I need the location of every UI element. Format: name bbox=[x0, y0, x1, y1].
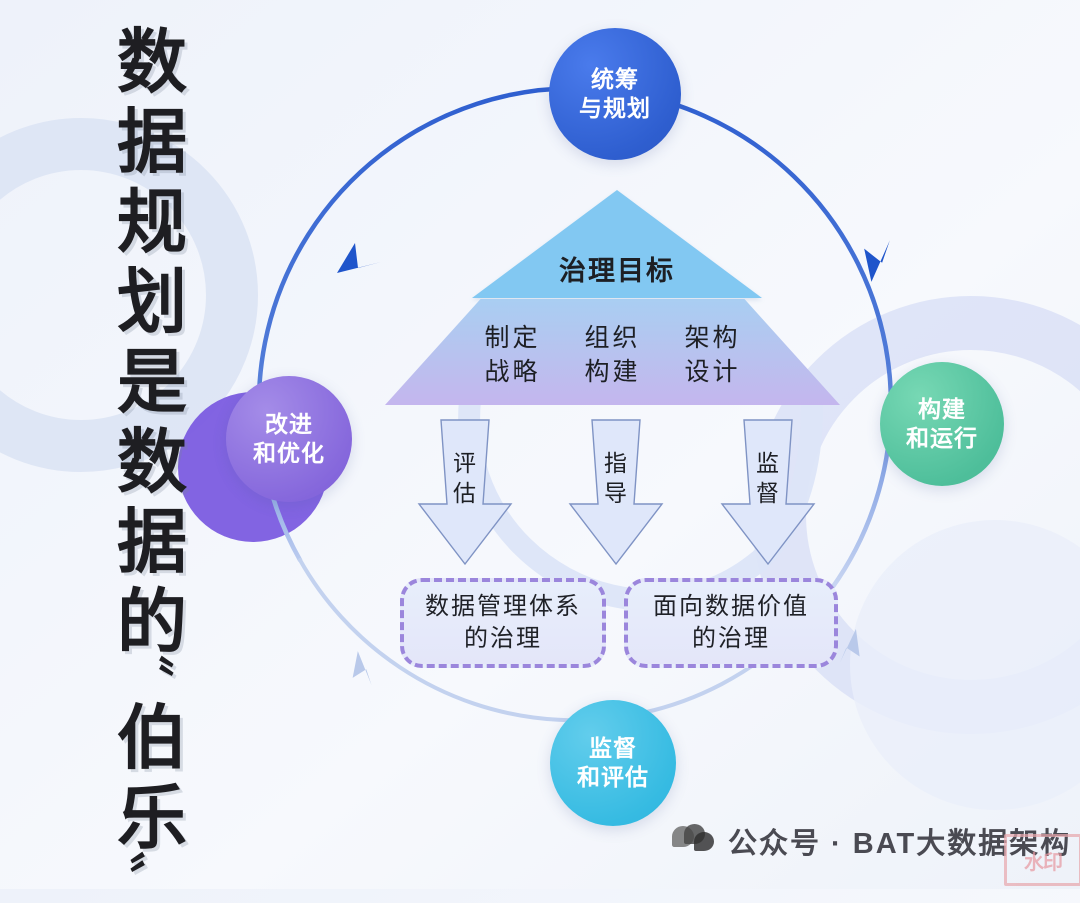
arrow-line-1: 评 bbox=[417, 448, 513, 478]
pyramid-base-column-0: 制定 战略 bbox=[484, 321, 540, 389]
node-line-1: 构建 bbox=[918, 395, 966, 424]
column-line-1: 组织 bbox=[584, 321, 640, 355]
cycle-node-planning[interactable]: 统筹 与规划 bbox=[549, 28, 681, 160]
cycle-arrowhead-bottom-left bbox=[343, 651, 373, 691]
node-line-1: 统筹 bbox=[591, 65, 639, 94]
cycle-arrowhead-bottom-right bbox=[837, 629, 870, 670]
node-line-2: 和优化 bbox=[253, 439, 325, 468]
column-line-1: 制定 bbox=[484, 321, 540, 355]
chat-bubbles-icon bbox=[672, 824, 718, 858]
column-line-1: 架构 bbox=[685, 321, 741, 355]
cycle-arrowhead-left bbox=[337, 243, 381, 273]
pyramid-base-column-2: 架构 设计 bbox=[685, 321, 741, 389]
down-arrow-evaluate: 评 估 bbox=[417, 418, 513, 566]
arrow-line-1: 监 bbox=[720, 448, 816, 478]
governance-box-line-1: 面向数据价值 bbox=[653, 591, 809, 623]
column-line-2: 设计 bbox=[685, 355, 741, 389]
down-arrow-guide: 指 导 bbox=[568, 418, 664, 566]
cycle-node-supervise-evaluate[interactable]: 监督 和评估 bbox=[550, 700, 676, 826]
arrow-line-2: 导 bbox=[568, 478, 664, 508]
node-line-2: 和运行 bbox=[906, 424, 978, 453]
pyramid-base: 制定 战略 组织 构建 架构 设计 bbox=[385, 299, 840, 405]
down-arrow-label: 评 估 bbox=[417, 448, 513, 508]
column-line-2: 构建 bbox=[584, 355, 640, 389]
governance-box-line-2: 的治理 bbox=[653, 623, 809, 655]
node-line-1: 改进 bbox=[265, 410, 313, 439]
column-line-2: 战略 bbox=[484, 355, 540, 389]
cycle-node-improve-optimize[interactable]: 改进 和优化 bbox=[226, 376, 352, 502]
pyramid-base-column-1: 组织 构建 bbox=[584, 321, 640, 389]
down-arrow-label: 监 督 bbox=[720, 448, 816, 508]
pyramid-apex: 治理目标 bbox=[472, 190, 762, 298]
down-arrow-label: 指 导 bbox=[568, 448, 664, 508]
node-line-1: 监督 bbox=[589, 734, 637, 763]
arrow-line-2: 估 bbox=[417, 478, 513, 508]
governance-box-line-1: 数据管理体系 bbox=[425, 591, 581, 623]
governance-box-0: 数据管理体系 的治理 bbox=[400, 578, 606, 668]
node-line-2: 与规划 bbox=[579, 94, 651, 123]
stamp-watermark: 水印 bbox=[1004, 834, 1080, 886]
poster-canvas: 数 据 规 划 是 数 据 的 〝 伯 乐 〞 bbox=[0, 0, 1080, 889]
node-line-2: 和评估 bbox=[577, 763, 649, 792]
pyramid-apex-label: 治理目标 bbox=[472, 249, 762, 288]
cycle-node-build-run[interactable]: 构建 和运行 bbox=[880, 362, 1004, 486]
arrow-line-2: 督 bbox=[720, 478, 816, 508]
governance-box-1: 面向数据价值 的治理 bbox=[624, 578, 838, 668]
governance-box-line-2: 的治理 bbox=[425, 623, 581, 655]
down-arrow-supervise: 监 督 bbox=[720, 418, 816, 566]
cycle-arrowhead-right bbox=[863, 240, 899, 282]
arrow-line-1: 指 bbox=[568, 448, 664, 478]
